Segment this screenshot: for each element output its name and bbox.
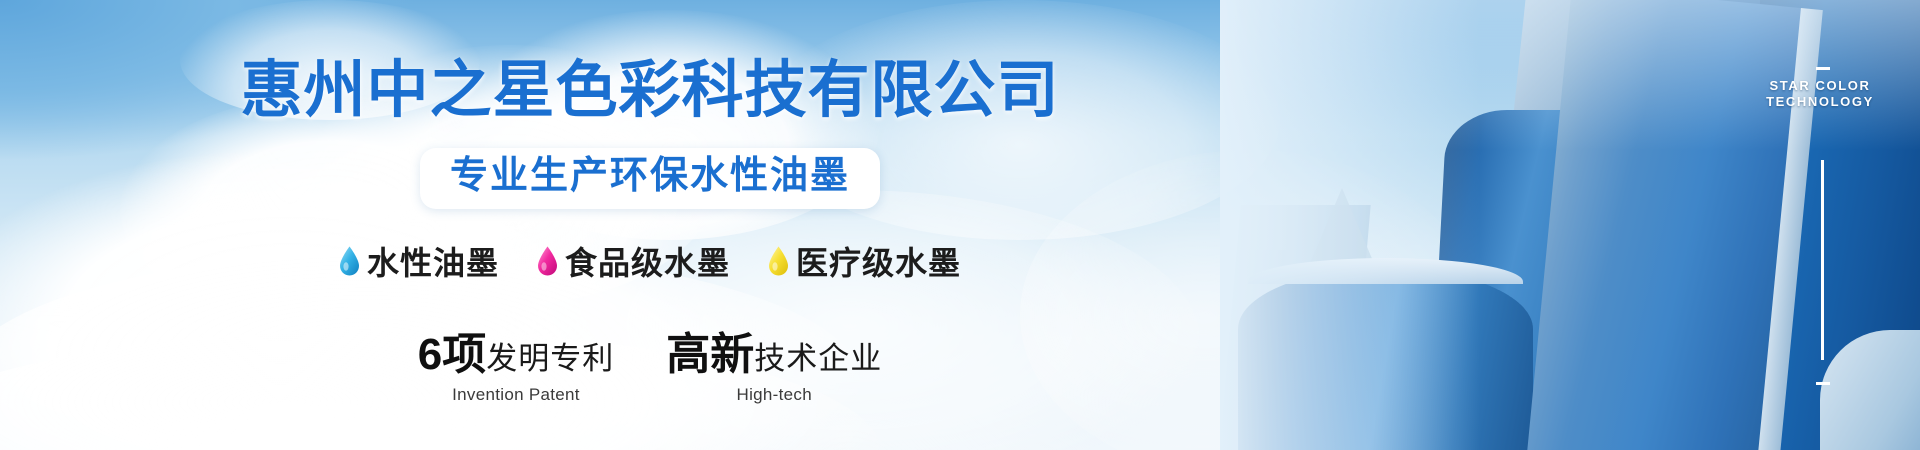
feature-label: 食品级水墨 [565,238,730,284]
feature-item-food-grade: 食品级水墨 [537,238,730,284]
slogan-pill-wrapper: 专业生产环保水性油墨 [0,148,1300,209]
badge-chinese-line: 6项 发明专利 [418,318,614,382]
company-title: 惠州中之星色彩科技有限公司 [0,60,1300,122]
promo-banner: Star Color STAR COLOR TECHNOLOGY [0,0,1920,450]
badge-high-tech: 高新 技术企业 High-tech [666,318,882,405]
badge-invention-patent: 6项 发明专利 Invention Patent [418,318,614,405]
building-brand-line2: TECHNOLOGY [1740,94,1900,110]
badge-chinese-line: 高新 技术企业 [666,318,882,382]
feature-item-water-ink: 水性油墨 [339,238,499,284]
water-drop-icon [339,246,360,276]
feature-list: 水性油墨 [0,238,1300,284]
water-drop-icon [768,246,789,276]
building-spire [1308,188,1376,268]
label-vertical-rule [1821,160,1824,360]
label-tick-bottom [1816,382,1830,385]
feature-label: 医疗级水墨 [796,238,961,284]
banner-content: 惠州中之星色彩科技有限公司 专业生产环保水性油墨 [0,0,1300,450]
building-brand-line1: STAR COLOR [1740,78,1900,94]
badge-highlight: 6项 [418,318,486,382]
badge-english: Invention Patent [452,385,580,405]
badge-highlight: 高新 [666,318,754,382]
feature-item-medical-grade: 医疗级水墨 [768,238,961,284]
building-brand-label: STAR COLOR TECHNOLOGY [1740,78,1900,111]
badge-list: 6项 发明专利 Invention Patent 高新 技术企业 High-te… [0,318,1300,405]
slogan-text: 专业生产环保水性油墨 [450,157,850,197]
building-main-tower [1527,0,1821,450]
badge-subtext: 技术企业 [754,333,882,378]
feature-label: 水性油墨 [367,238,499,284]
badge-subtext: 发明专利 [486,333,614,378]
badge-english: High-tech [737,385,812,405]
slogan-pill: 专业生产环保水性油墨 [420,148,880,209]
skyscrapers-photo: STAR COLOR TECHNOLOGY [1220,0,1920,450]
water-drop-icon [537,246,558,276]
label-tick-top [1816,67,1830,70]
